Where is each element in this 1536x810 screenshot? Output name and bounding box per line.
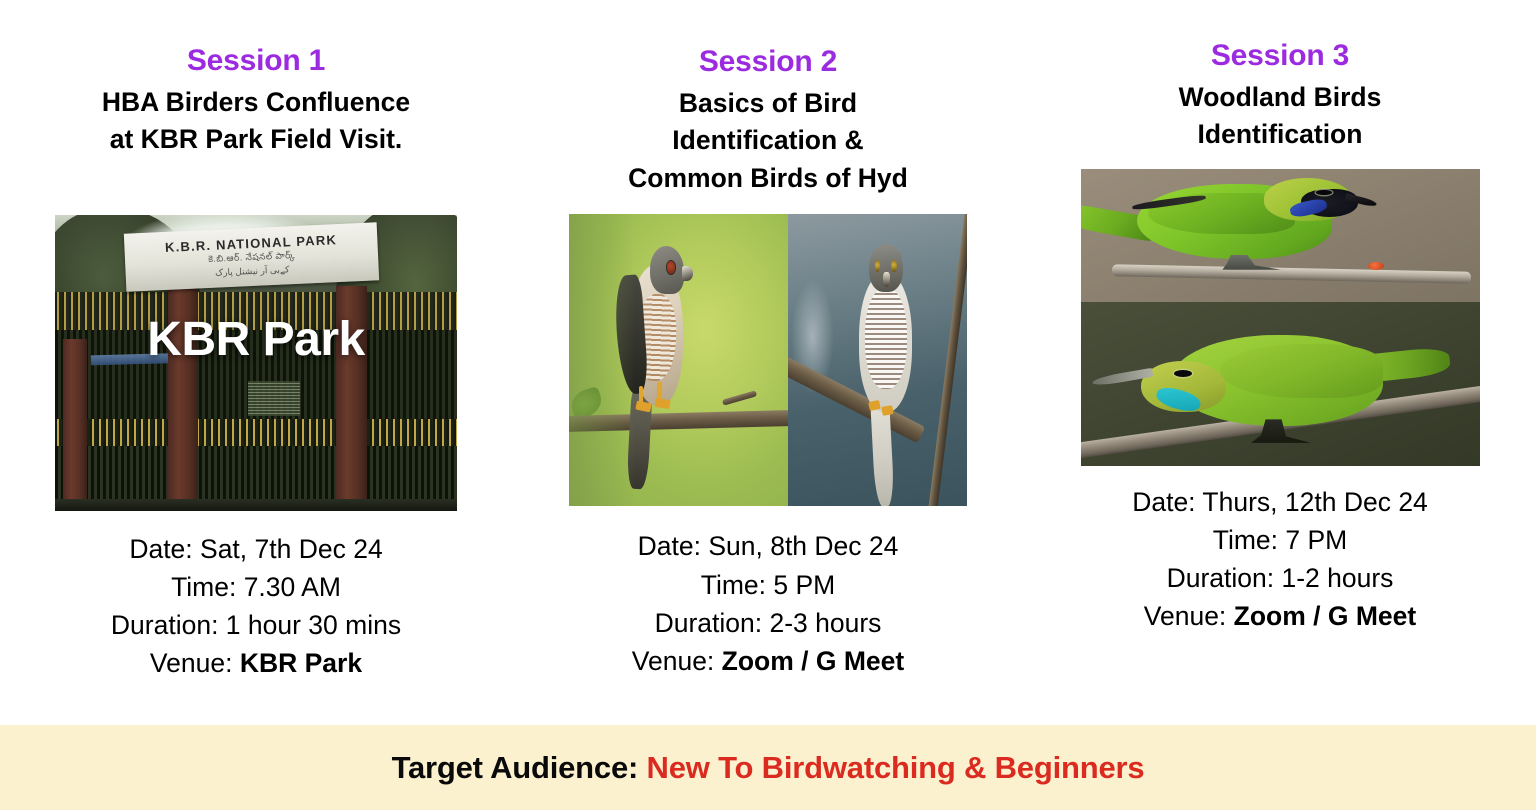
female-leafbird-wing xyxy=(1220,344,1384,398)
poster-slide: Session 1 HBA Birders Confluence at KBR … xyxy=(0,0,1536,810)
sparrowhawk-eye-left xyxy=(875,260,880,271)
session-3-details: Date: Thurs, 12th Dec 24 Time: 7 PM Dura… xyxy=(1132,483,1428,636)
session-3-date: Date: Thurs, 12th Dec 24 xyxy=(1132,483,1428,521)
session-1-date: Date: Sat, 7th Dec 24 xyxy=(111,530,401,568)
raptors-comparison-photo xyxy=(569,214,967,506)
session-1-details: Date: Sat, 7th Dec 24 Time: 7.30 AM Dura… xyxy=(111,530,401,683)
kbr-park-gate-photo: K.B.R. NATIONAL PARK కె.బి.ఆర్. నేషనల్ ప… xyxy=(55,215,457,511)
sparrowhawk-panel xyxy=(788,214,967,506)
session-2-details: Date: Sun, 8th Dec 24 Time: 5 PM Duratio… xyxy=(632,527,904,680)
sessions-row: Session 1 HBA Birders Confluence at KBR … xyxy=(0,0,1536,725)
sparrowhawk-foot-right xyxy=(882,405,894,416)
signboard-urdu-text: کےبی آر نیشنل پارک xyxy=(215,265,290,279)
session-3-venue-value: Zoom / G Meet xyxy=(1234,601,1417,631)
target-audience-value: New To Birdwatching & Beginners xyxy=(647,750,1145,785)
branch-twig xyxy=(722,391,757,406)
session-card-2: Session 2 Basics of Bird Identification … xyxy=(512,0,1024,725)
session-3-title: Woodland Birds Identification xyxy=(1179,79,1382,154)
session-2-time: Time: 5 PM xyxy=(632,566,904,604)
vertical-branch xyxy=(926,214,967,506)
target-audience-text: Target Audience: New To Birdwatching & B… xyxy=(392,750,1145,786)
session-1-title: HBA Birders Confluence at KBR Park Field… xyxy=(102,84,410,159)
sparrowhawk-beak xyxy=(883,272,890,287)
shikra-beak xyxy=(682,266,693,280)
session-2-title: Basics of Bird Identification & Common B… xyxy=(628,85,908,198)
session-card-1: Session 1 HBA Birders Confluence at KBR … xyxy=(0,0,512,725)
session-1-duration: Duration: 1 hour 30 mins xyxy=(111,606,401,644)
female-leafbird xyxy=(1116,325,1419,443)
session-2-date: Date: Sun, 8th Dec 24 xyxy=(632,527,904,565)
session-3-venue-label: Venue: xyxy=(1144,601,1234,631)
shikra-foot-right xyxy=(654,397,670,408)
female-leafbird-panel xyxy=(1081,302,1480,465)
male-leafbird xyxy=(1100,178,1363,272)
session-3-venue: Venue: Zoom / G Meet xyxy=(1132,597,1428,635)
sparrowhawk-foot-left xyxy=(868,400,881,411)
sparrowhawk-tail xyxy=(870,402,894,506)
leaf-sprig xyxy=(569,385,605,419)
session-1-label: Session 1 xyxy=(187,45,325,77)
session-1-time: Time: 7.30 AM xyxy=(111,568,401,606)
session-2-duration: Duration: 2-3 hours xyxy=(632,604,904,642)
session-1-venue-label: Venue: xyxy=(150,648,240,678)
shikra-eye xyxy=(667,261,675,274)
shikra-panel xyxy=(569,214,788,506)
gate-bars-bottom xyxy=(55,446,457,505)
male-leafbird-panel xyxy=(1081,169,1480,303)
session-2-venue: Venue: Zoom / G Meet xyxy=(632,642,904,680)
female-leafbird-eye xyxy=(1174,370,1192,377)
session-2-label: Session 2 xyxy=(699,46,837,78)
session-3-duration: Duration: 1-2 hours xyxy=(1132,559,1428,597)
session-3-time: Time: 7 PM xyxy=(1132,521,1428,559)
gate-finials-lower xyxy=(55,419,457,446)
ground-strip xyxy=(55,499,457,511)
sparrowhawk-eye-right xyxy=(891,260,896,271)
park-signboard: K.B.R. NATIONAL PARK కె.బి.ఆర్. నేషనల్ ప… xyxy=(124,222,380,291)
session-card-3: Session 3 Woodland Birds Identification xyxy=(1024,0,1536,725)
sparrowhawk-breast-barring xyxy=(865,288,907,389)
leafbirds-photo xyxy=(1081,169,1480,466)
session-2-venue-label: Venue: xyxy=(632,646,722,676)
sparrowhawk-bird xyxy=(852,244,920,431)
target-audience-banner: Target Audience: New To Birdwatching & B… xyxy=(0,725,1536,810)
session-2-venue-value: Zoom / G Meet xyxy=(722,646,905,676)
session-1-venue: Venue: KBR Park xyxy=(111,644,401,682)
session-3-label: Session 3 xyxy=(1211,40,1349,72)
shikra-bird xyxy=(613,246,701,427)
kbr-park-overlay-text: KBR Park xyxy=(55,312,457,367)
gate-centre-plate xyxy=(248,381,300,417)
target-audience-label: Target Audience: xyxy=(392,750,647,785)
male-leafbird-eye xyxy=(1316,190,1332,195)
session-1-venue-value: KBR Park xyxy=(240,648,362,678)
